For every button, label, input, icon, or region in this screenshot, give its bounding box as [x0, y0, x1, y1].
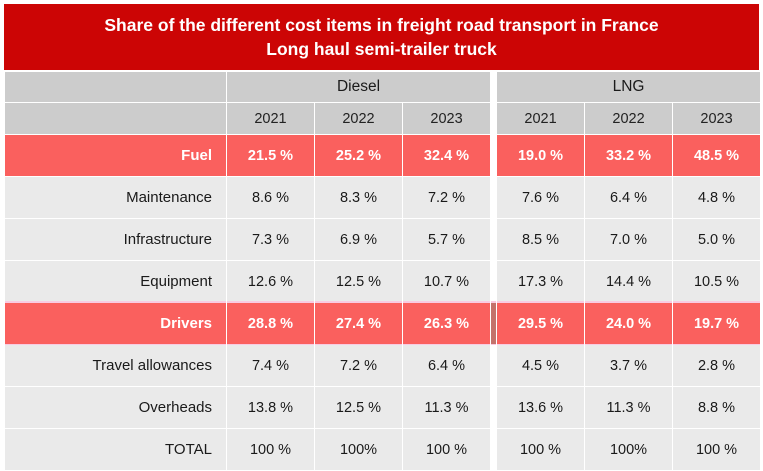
row-label: Maintenance	[5, 177, 226, 218]
group-separator-2	[491, 103, 496, 134]
table-row[interactable]: Overheads13.8 %12.5 %11.3 %13.6 %11.3 %8…	[5, 387, 760, 428]
cell-diesel-2021: 7.4 %	[227, 345, 314, 386]
column-group-diesel[interactable]: Diesel	[227, 72, 490, 102]
column-header-lng-2022[interactable]: 2022	[585, 103, 672, 134]
table-row[interactable]: Infrastructure7.3 %6.9 %5.7 %8.5 %7.0 %5…	[5, 219, 760, 260]
table-row[interactable]: Drivers28.8 %27.4 %26.3 %29.5 %24.0 %19.…	[5, 303, 760, 344]
table-corner-cell-2	[5, 103, 226, 134]
cost-share-table: Diesel LNG 2021 2022 2023 2021 2022 2023…	[4, 71, 761, 471]
cell-diesel-2021: 13.8 %	[227, 387, 314, 428]
cell-lng-2022: 6.4 %	[585, 177, 672, 218]
cell-lng-2022: 33.2 %	[585, 135, 672, 176]
row-group-separator	[491, 135, 496, 176]
table-header: Diesel LNG 2021 2022 2023 2021 2022 2023	[5, 72, 760, 134]
cell-diesel-2022: 25.2 %	[315, 135, 402, 176]
cell-lng-2021: 7.6 %	[497, 177, 584, 218]
cell-diesel-2021: 21.5 %	[227, 135, 314, 176]
table-row[interactable]: Travel allowances7.4 %7.2 %6.4 %4.5 %3.7…	[5, 345, 760, 386]
cell-lng-2022: 7.0 %	[585, 219, 672, 260]
column-header-diesel-2022[interactable]: 2022	[315, 103, 402, 134]
title-line-1: Share of the different cost items in fre…	[24, 13, 739, 37]
cell-lng-2023: 2.8 %	[673, 345, 760, 386]
column-group-lng[interactable]: LNG	[497, 72, 760, 102]
cell-lng-2023: 10.5 %	[673, 261, 760, 302]
table-row[interactable]: Equipment12.6 %12.5 %10.7 %17.3 %14.4 %1…	[5, 261, 760, 302]
cell-lng-2021: 17.3 %	[497, 261, 584, 302]
cell-diesel-2021: 12.6 %	[227, 261, 314, 302]
column-header-lng-2021[interactable]: 2021	[497, 103, 584, 134]
cell-lng-2021: 19.0 %	[497, 135, 584, 176]
cell-lng-2021: 13.6 %	[497, 387, 584, 428]
cell-lng-2023: 48.5 %	[673, 135, 760, 176]
column-header-diesel-2023[interactable]: 2023	[403, 103, 490, 134]
row-label: Infrastructure	[5, 219, 226, 260]
page-title: Share of the different cost items in fre…	[4, 4, 759, 70]
cell-diesel-2021: 8.6 %	[227, 177, 314, 218]
column-header-lng-2023[interactable]: 2023	[673, 103, 760, 134]
row-group-separator	[491, 387, 496, 428]
table-card: Share of the different cost items in fre…	[0, 0, 763, 464]
row-group-separator	[491, 345, 496, 386]
row-group-separator	[491, 303, 496, 344]
cell-diesel-2022: 27.4 %	[315, 303, 402, 344]
column-header-diesel-2021[interactable]: 2021	[227, 103, 314, 134]
cell-diesel-2023: 11.3 %	[403, 387, 490, 428]
cell-diesel-2023: 10.7 %	[403, 261, 490, 302]
cell-lng-2021: 4.5 %	[497, 345, 584, 386]
cell-diesel-2022: 6.9 %	[315, 219, 402, 260]
cell-lng-2022: 24.0 %	[585, 303, 672, 344]
cell-lng-2023: 8.8 %	[673, 387, 760, 428]
cell-diesel-2022: 7.2 %	[315, 345, 402, 386]
cell-diesel-2022: 12.5 %	[315, 261, 402, 302]
cell-lng-2022: 11.3 %	[585, 387, 672, 428]
cell-lng-2021: 29.5 %	[497, 303, 584, 344]
header-group-row: Diesel LNG	[5, 72, 760, 102]
row-group-separator	[491, 261, 496, 302]
cell-lng-2021: 8.5 %	[497, 219, 584, 260]
cell-diesel-2023: 26.3 %	[403, 303, 490, 344]
table-row[interactable]: Maintenance8.6 %8.3 %7.2 %7.6 %6.4 %4.8 …	[5, 177, 760, 218]
table-row[interactable]: Fuel21.5 %25.2 %32.4 %19.0 %33.2 %48.5 %	[5, 135, 760, 176]
cell-diesel-2023: 7.2 %	[403, 177, 490, 218]
cell-lng-2023: 5.0 %	[673, 219, 760, 260]
cell-diesel-2021: 28.8 %	[227, 303, 314, 344]
row-label: Overheads	[5, 387, 226, 428]
cell-lng-2022: 14.4 %	[585, 261, 672, 302]
cell-lng-2022: 3.7 %	[585, 345, 672, 386]
cell-lng-2023: 19.7 %	[673, 303, 760, 344]
cell-diesel-2023: 32.4 %	[403, 135, 490, 176]
row-group-separator	[491, 177, 496, 218]
cell-lng-2023: 4.8 %	[673, 177, 760, 218]
row-group-separator	[491, 219, 496, 260]
cell-diesel-2022: 8.3 %	[315, 177, 402, 218]
row-label: Drivers	[5, 303, 226, 344]
row-label: Equipment	[5, 261, 226, 302]
row-label: Travel allowances	[5, 345, 226, 386]
title-line-2: Long haul semi-trailer truck	[24, 37, 739, 61]
header-year-row: 2021 2022 2023 2021 2022 2023	[5, 103, 760, 134]
table-corner-cell	[5, 72, 226, 102]
cell-diesel-2023: 5.7 %	[403, 219, 490, 260]
cell-diesel-2023: 6.4 %	[403, 345, 490, 386]
cell-diesel-2021: 7.3 %	[227, 219, 314, 260]
group-separator	[491, 72, 496, 102]
cell-diesel-2022: 12.5 %	[315, 387, 402, 428]
table-body: Fuel21.5 %25.2 %32.4 %19.0 %33.2 %48.5 %…	[5, 135, 760, 470]
row-label: Fuel	[5, 135, 226, 176]
